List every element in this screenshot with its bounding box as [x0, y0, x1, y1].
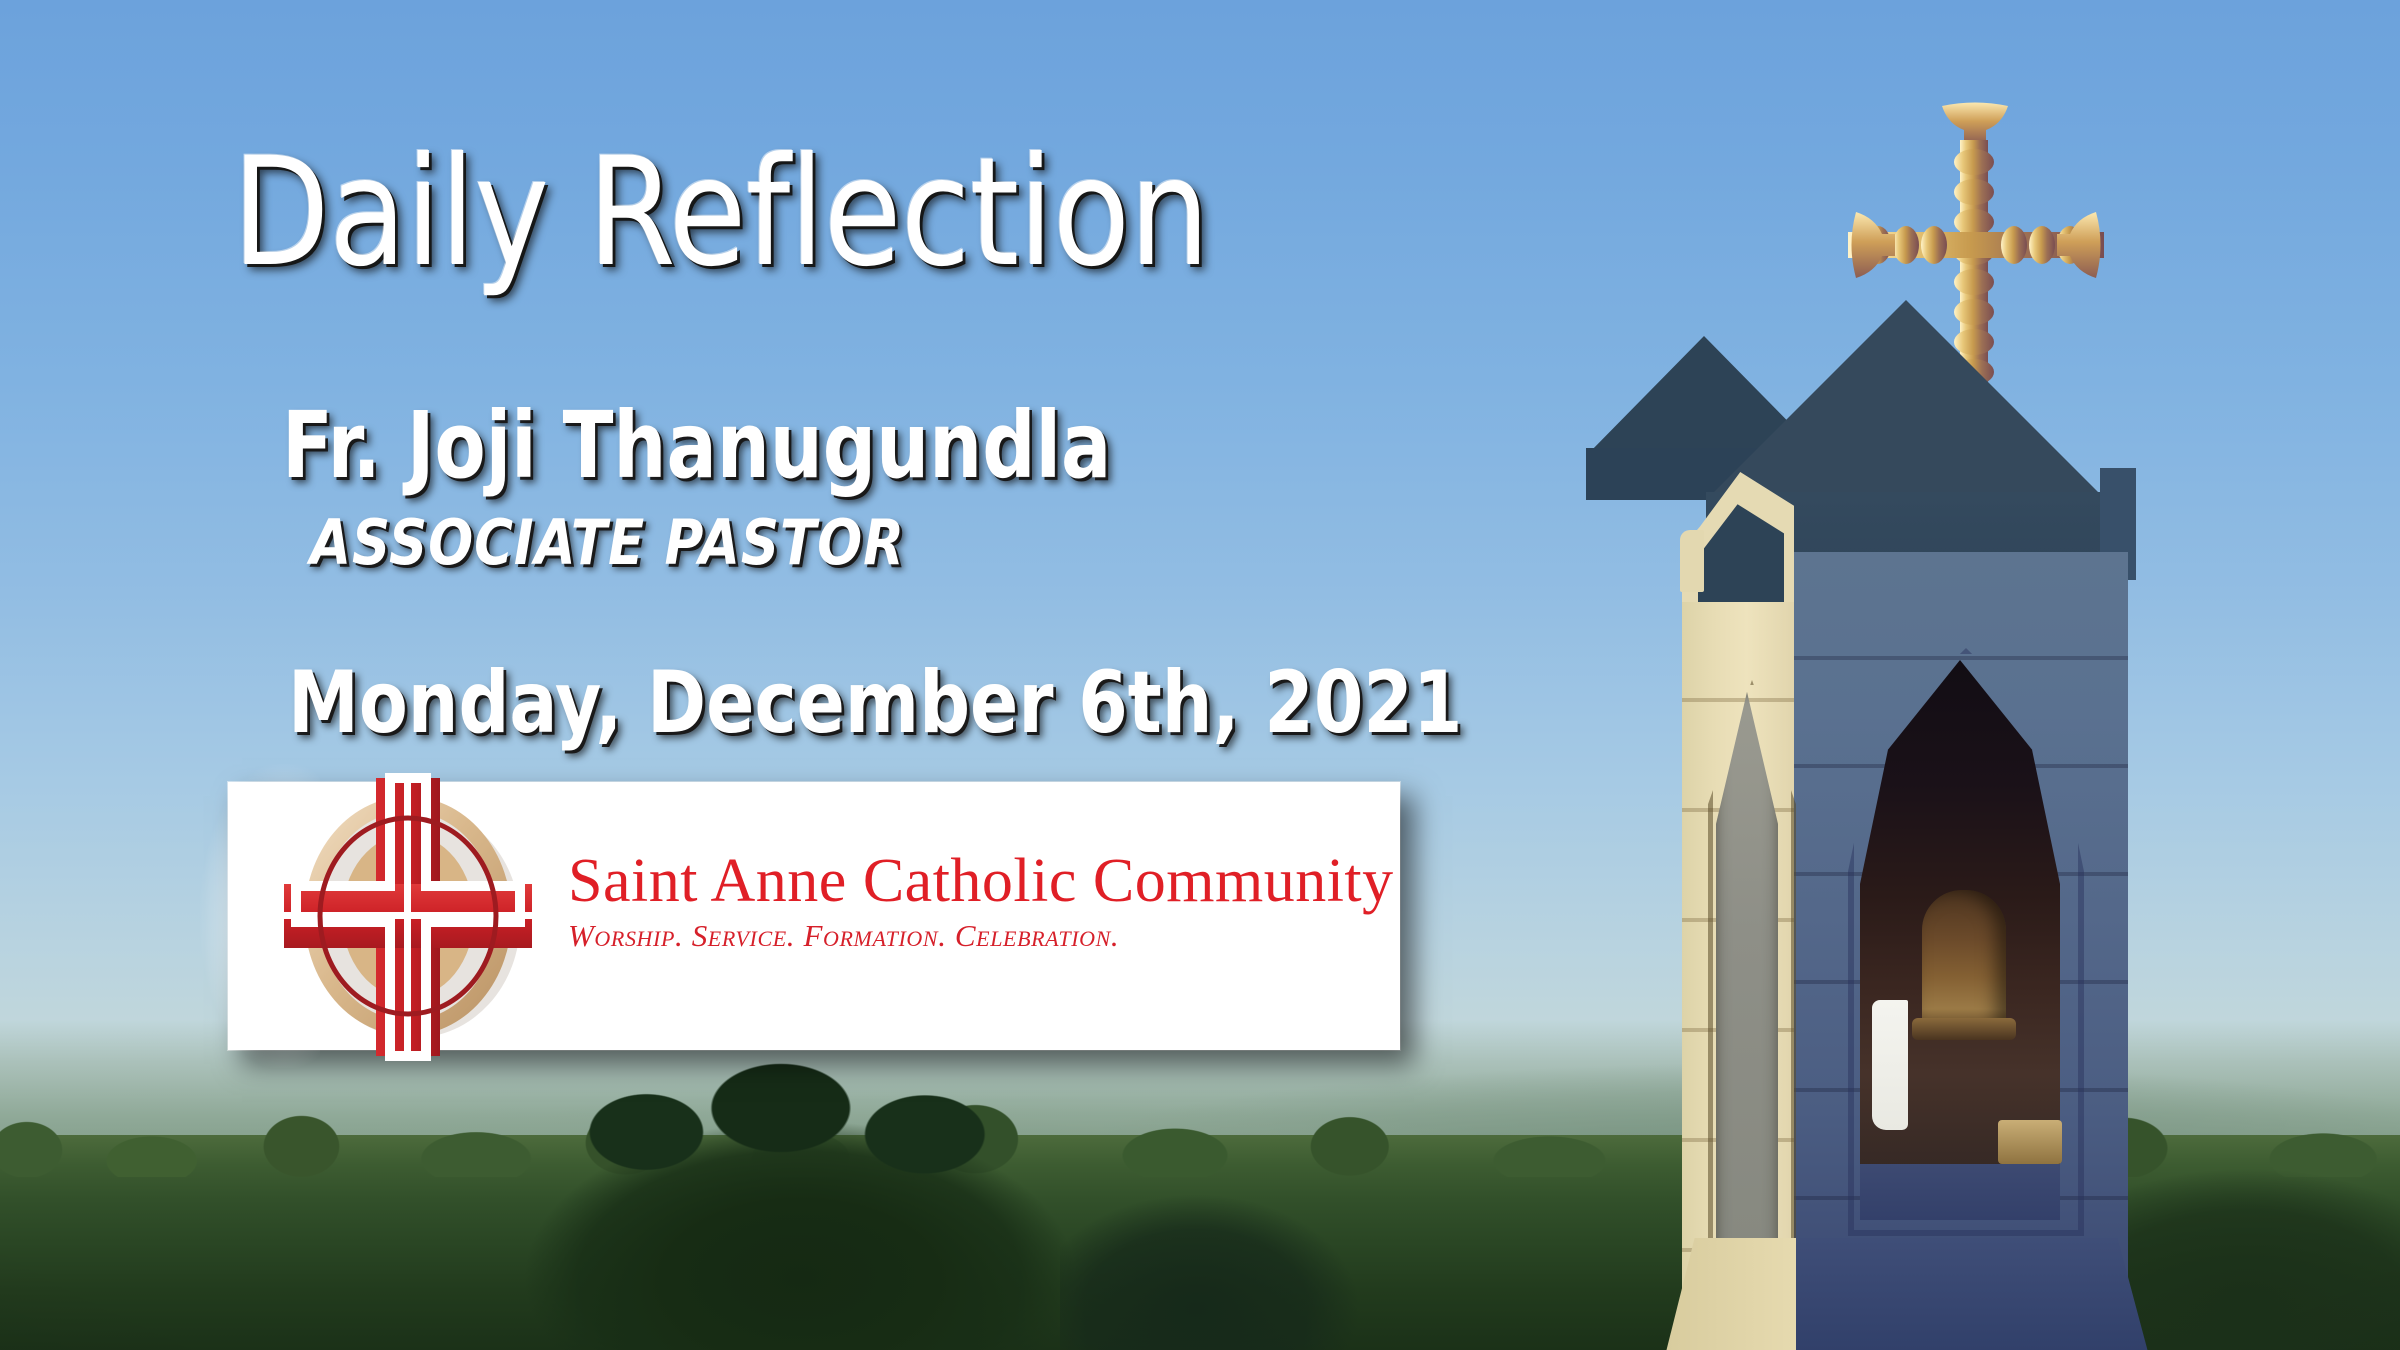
church-bell-lip [1912, 1018, 2016, 1040]
steeple-base-shadow-side [1768, 1238, 2148, 1350]
daily-reflection-slide: Daily Reflection Fr. Joji Thanugundla AS… [0, 0, 2400, 1350]
steeple-roof-main-gable [1706, 300, 2106, 500]
steeple-left-finial [1680, 530, 1704, 592]
page-title: Daily Reflection [232, 138, 1209, 288]
organization-name: Saint Anne Catholic Community [568, 850, 1388, 913]
organization-tagline: Worship. Service. Formation. Celebration… [568, 919, 1388, 953]
cross-in-circle-logo-icon [258, 760, 558, 1072]
presenter-name: Fr. Joji Thanugundla [282, 400, 1111, 492]
church-steeple [1530, 100, 2400, 1350]
foreground-tree-center [1060, 1120, 1400, 1350]
bell-ledge [1998, 1120, 2062, 1164]
presenter-role: ASSOCIATE PASTOR [310, 512, 905, 574]
bell-backlight [1872, 1000, 1908, 1130]
bell-arch-floor [1860, 1164, 2060, 1220]
foreground-tree-left [520, 1020, 1080, 1350]
banner-text-block: Saint Anne Catholic Community Worship. S… [568, 850, 1388, 953]
church-bell-icon [1922, 890, 2006, 1030]
reflection-date: Monday, December 6th, 2021 [288, 660, 1462, 746]
